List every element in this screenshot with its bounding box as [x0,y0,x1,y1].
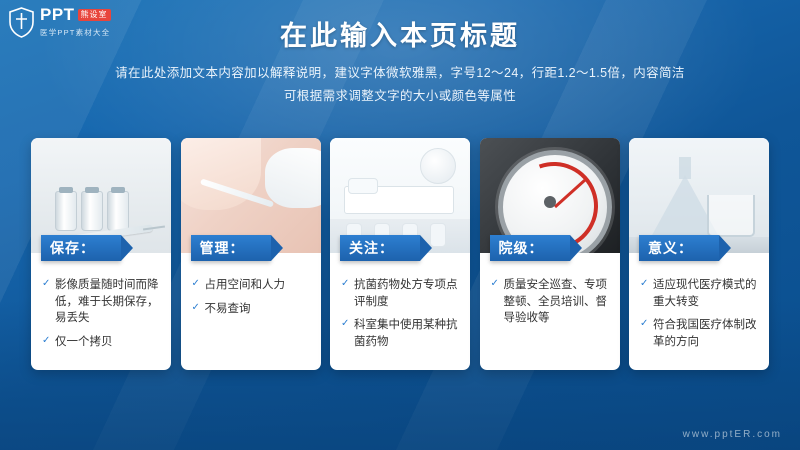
subtitle-line-1: 请在此处添加文本内容加以解释说明，建议字体微软雅黑，字号12～24，行距1.2～… [0,62,800,85]
watermark: www.pptER.com [683,429,782,440]
card-bullet-list: 质量安全巡查、专项整顿、全员培训、督导验收等 [491,277,609,327]
subtitle-line-2: 可根据需求调整文字的大小或颜色等属性 [0,85,800,108]
card-bullet-list: 适应现代医疗模式的重大转变 符合我国医疗体制改革的方向 [640,277,758,351]
list-item: 符合我国医疗体制改革的方向 [640,317,758,350]
logo-main-text: PPT [40,6,75,23]
card-label: 意义： [639,235,719,261]
list-item: 抗菌药物处方专项点评制度 [341,277,459,310]
card-bullet-list: 抗菌药物处方专项点评制度 科室集中使用某种抗菌药物 [341,277,459,351]
list-item: 质量安全巡查、专项整顿、全员培训、督导验收等 [491,277,609,327]
card-item[interactable]: 管理： 占用空间和人力 不易查询 [181,138,321,370]
list-item: 占用空间和人力 [192,277,310,294]
page-title: 在此输入本页标题 [0,14,800,53]
logo-subtitle: 医学PPT素材大全 [40,28,110,37]
page-subtitle: 请在此处添加文本内容加以解释说明，建议字体微软雅黑，字号12～24，行距1.2～… [0,62,800,108]
list-item: 科室集中使用某种抗菌药物 [341,317,459,350]
card-list: 保存： 影像质量随时间而降低，难于长期保存，易丢失 仅一个拷贝 管理： 占用空间… [31,138,769,370]
card-label: 院级： [490,235,570,261]
list-item: 不易查询 [192,301,310,318]
list-item: 仅一个拷贝 [42,334,160,351]
card-item[interactable]: 意义： 适应现代医疗模式的重大转变 符合我国医疗体制改革的方向 [629,138,769,370]
card-bullet-list: 占用空间和人力 不易查询 [192,277,310,317]
card-label: 管理： [191,235,271,261]
card-item[interactable]: 院级： 质量安全巡查、专项整顿、全员培训、督导验收等 [480,138,620,370]
list-item: 影像质量随时间而降低，难于长期保存，易丢失 [42,277,160,327]
card-label: 保存： [41,235,121,261]
card-item[interactable]: 保存： 影像质量随时间而降低，难于长期保存，易丢失 仅一个拷贝 [31,138,171,370]
slide-canvas: PPT 熊设室 医学PPT素材大全 在此输入本页标题 请在此处添加文本内容加以解… [0,0,800,450]
brand-logo: PPT 熊设室 医学PPT素材大全 [8,6,111,39]
card-bullet-list: 影像质量随时间而降低，难于长期保存，易丢失 仅一个拷贝 [42,277,160,351]
shield-icon [8,7,35,38]
list-item: 适应现代医疗模式的重大转变 [640,277,758,310]
card-label: 关注： [340,235,420,261]
card-item[interactable]: 关注： 抗菌药物处方专项点评制度 科室集中使用某种抗菌药物 [330,138,470,370]
logo-badge: 熊设室 [78,9,111,21]
